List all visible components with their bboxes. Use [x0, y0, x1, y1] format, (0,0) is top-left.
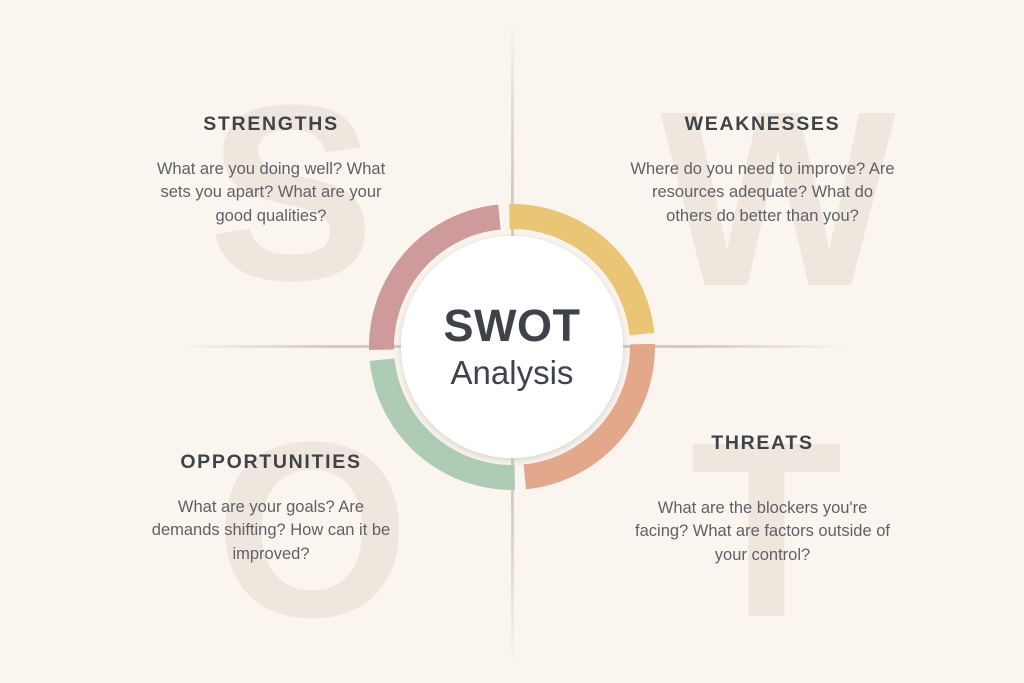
quadrant-threats-body: What are the blockers you're facing? Wha…: [630, 497, 895, 567]
donut-svg: [369, 204, 655, 490]
quadrant-opportunities-title: OPPORTUNITIES: [146, 451, 396, 474]
swot-diagram-canvas: S W O T STRENGTHS What are you doing wel…: [0, 0, 1024, 683]
quadrant-threats-title: THREATS: [630, 432, 895, 455]
quadrant-opportunities-body: What are your goals? Are demands shiftin…: [146, 496, 396, 566]
donut-inner-disc: [401, 236, 623, 458]
quadrant-strengths-body: What are you doing well? What sets you a…: [146, 158, 396, 228]
quadrant-weaknesses-body: Where do you need to improve? Are resour…: [630, 158, 895, 228]
center-donut: SWOT Analysis: [369, 204, 655, 490]
quadrant-opportunities: OPPORTUNITIES What are your goals? Are d…: [146, 451, 396, 566]
quadrant-strengths-title: STRENGTHS: [146, 113, 396, 136]
quadrant-threats: THREATS What are the blockers you're fac…: [630, 432, 895, 567]
quadrant-weaknesses-title: WEAKNESSES: [630, 113, 895, 136]
quadrant-weaknesses: WEAKNESSES Where do you need to improve?…: [630, 113, 895, 228]
quadrant-strengths: STRENGTHS What are you doing well? What …: [146, 113, 396, 228]
